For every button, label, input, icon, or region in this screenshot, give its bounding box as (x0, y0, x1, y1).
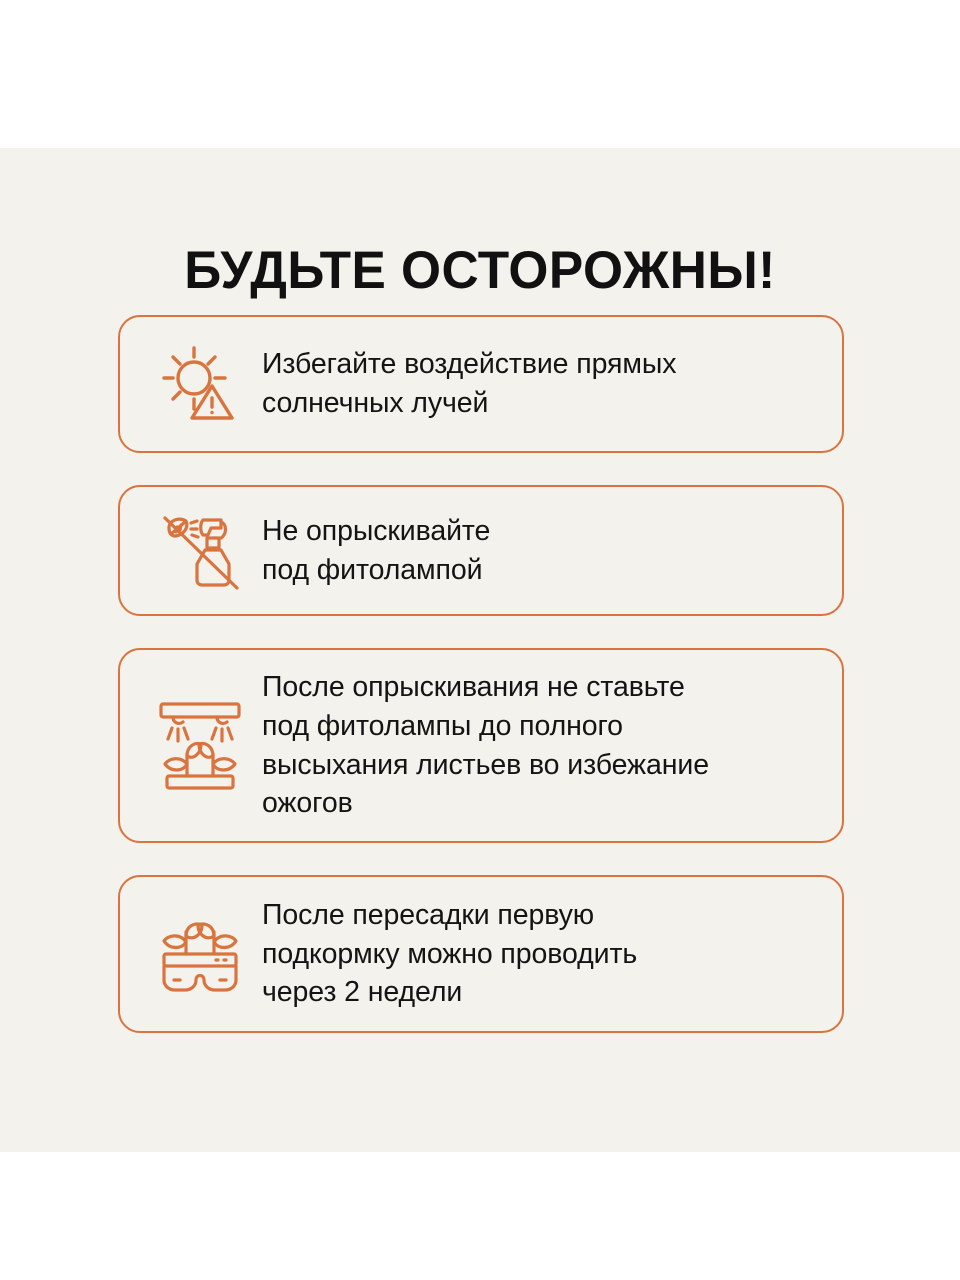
card-text-line: под фитолампой (262, 551, 822, 590)
card-text-line: солнечных лучей (262, 384, 822, 423)
grow-lamp-plants-icon (146, 698, 254, 794)
no-spray-bottle-icon (146, 510, 254, 592)
warning-card-direct-sunlight: Избегайте воздействие прямых солнечных л… (118, 315, 844, 453)
sun-warning-icon (146, 344, 254, 424)
content-panel: БУДЬТЕ ОСТОРОЖНЫ! (0, 148, 960, 1152)
card-text-line: Не опрыскивайте (262, 512, 822, 551)
warning-infographic-screen: БУДЬТЕ ОСТОРОЖНЫ! (0, 0, 960, 1280)
card-text-line: После опрыскивания не ставьте (262, 668, 822, 707)
card-text-line: под фитолампы до полного (262, 707, 822, 746)
warning-card-text: Не опрыскивайте под фитолампой (254, 512, 822, 590)
card-text-line: ожогов (262, 784, 822, 823)
card-text-line: Избегайте воздействие прямых (262, 345, 822, 384)
warning-card-text: После опрыскивания не ставьте под фитола… (254, 668, 822, 823)
card-text-line: высыхания листьев во избежание (262, 746, 822, 785)
card-text-line: через 2 недели (262, 973, 822, 1012)
card-text-line: После пересадки первую (262, 896, 822, 935)
warning-card-first-feeding: После пересадки первую подкормку можно п… (118, 875, 844, 1033)
warning-card-list: Избегайте воздействие прямых солнечных л… (118, 315, 844, 1033)
warning-card-dry-before-lamp: После опрыскивания не ставьте под фитола… (118, 648, 844, 843)
card-text-line: подкормку можно проводить (262, 935, 822, 974)
page-title: БУДЬТЕ ОСТОРОЖНЫ! (14, 240, 945, 301)
warning-card-text: Избегайте воздействие прямых солнечных л… (254, 345, 822, 423)
warning-card-text: После пересадки первую подкормку можно п… (254, 896, 822, 1012)
warning-card-no-spraying: Не опрыскивайте под фитолампой (118, 485, 844, 616)
seedling-tray-icon (146, 914, 254, 994)
